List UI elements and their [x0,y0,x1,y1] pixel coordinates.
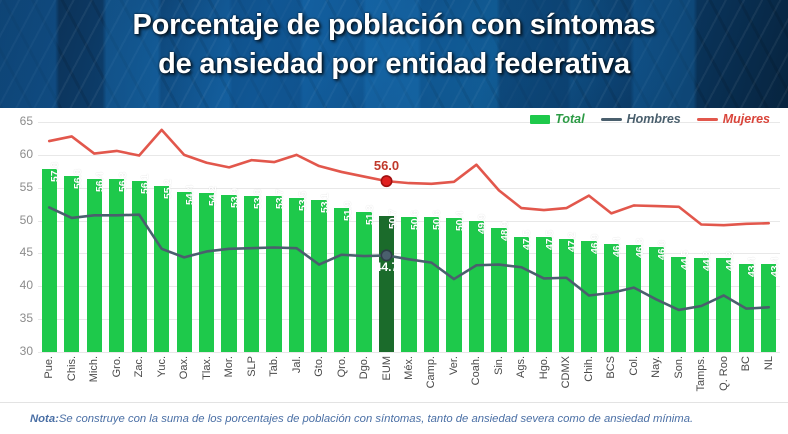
annotation-mujeres-eum-value: 56.0 [374,158,399,173]
x-axis-labels: Pue.Chis.Mich.Gro.Zac.Yuc.Oax.Tlax.Mor.S… [38,354,780,402]
x-axis-label-mich: Mich. [88,356,100,382]
x-axis-label-col: Col. [628,356,640,376]
x-axis-label-nl: NL [763,356,775,370]
y-axis-tick-30: 30 [0,344,33,358]
line-mujeres [49,130,769,225]
x-axis-label-qroo: Q. Roo [718,356,730,391]
x-label-slot: Hgo. [533,354,555,402]
x-axis-label-mor: Mor. [223,356,235,377]
x-label-slot: Son. [668,354,690,402]
x-label-slot: Tab. [263,354,285,402]
legend-label-total: Total [555,112,584,126]
chart-area: Total Hombres Mujeres 3035404550556065 5… [0,108,788,402]
x-label-slot: Pue. [38,354,60,402]
footnote: Nota: Se construye con la suma de los po… [0,402,788,434]
x-axis-label-mx: Méx. [403,356,415,380]
x-label-slot: Jal. [285,354,307,402]
x-label-slot: Coah. [465,354,487,402]
y-axis-tick-35: 35 [0,311,33,325]
x-label-slot: Méx. [398,354,420,402]
page-title-line1: Porcentaje de población con síntomas [0,6,788,45]
data-point-hombres-eum[interactable] [381,250,391,260]
x-label-slot: Sin. [488,354,510,402]
x-axis-label-zac: Zac. [133,356,145,377]
x-axis-label-gro: Gro. [111,356,123,377]
plot-area: 57.856.856.456.356.155.254.454.253.953.8… [38,122,780,352]
legend-swatch-total-icon [530,115,550,124]
x-label-slot: BCS [600,354,622,402]
x-axis-label-oax: Oax. [178,356,190,379]
x-label-slot: Zac. [128,354,150,402]
x-label-slot: Nay. [645,354,667,402]
x-label-slot: Ver. [443,354,465,402]
chart-legend: Total Hombres Mujeres [530,112,770,126]
page-title-line2: de ansiedad por entidad federativa [0,45,788,84]
legend-swatch-hombres-icon [601,118,622,121]
x-axis-label-tlax: Tlax. [201,356,213,380]
x-axis-label-tab: Tab. [268,356,280,377]
x-label-slot: Ags. [510,354,532,402]
x-label-slot: Oax. [173,354,195,402]
footnote-prefix: Nota: [30,413,59,425]
y-axis-tick-40: 40 [0,278,33,292]
x-axis-label-slp: SLP [246,356,258,377]
gridline-30 [38,352,780,353]
x-label-slot: Mor. [218,354,240,402]
x-label-slot: CDMX [555,354,577,402]
x-axis-label-jal: Jal. [291,356,303,373]
x-axis-label-qro: Qro. [336,356,348,377]
x-axis-label-pue: Pue. [43,356,55,379]
x-axis-label-bcs: BCS [605,356,617,379]
x-label-slot: Chis. [60,354,82,402]
data-point-mujeres-eum[interactable] [381,176,391,186]
page-title: Porcentaje de población con síntomas de … [0,6,788,83]
x-label-slot: Gro. [105,354,127,402]
x-label-slot: NL [758,354,780,402]
x-label-slot: Q. Roo [713,354,735,402]
x-axis-label-hgo: Hgo. [538,356,550,379]
y-axis-tick-55: 55 [0,180,33,194]
legend-item-mujeres[interactable]: Mujeres [697,112,770,126]
annotation-hombres-eum-value: 44.7 [375,260,398,274]
x-label-slot: Dgo. [353,354,375,402]
x-label-slot: Col. [623,354,645,402]
x-axis-label-eum: EUM [381,356,393,380]
y-axis-tick-65: 65 [0,114,33,128]
x-label-slot: Camp. [420,354,442,402]
x-label-slot: BC [735,354,757,402]
header-banner: Porcentaje de población con síntomas de … [0,0,788,108]
legend-label-hombres: Hombres [627,112,681,126]
legend-item-total[interactable]: Total [530,112,584,126]
x-axis-label-tamps: Tamps. [695,356,707,391]
x-label-slot: Chih. [578,354,600,402]
x-axis-label-ags: Ags. [515,356,527,378]
x-label-slot: Mich. [83,354,105,402]
x-label-slot: Tamps. [690,354,712,402]
x-label-slot: EUM [375,354,397,402]
x-label-slot: SLP [240,354,262,402]
footnote-text: Se construye con la suma de los porcenta… [59,413,693,425]
x-axis-label-coah: Coah. [470,356,482,385]
x-axis-label-camp: Camp. [425,356,437,388]
x-axis-label-ver: Ver. [448,356,460,375]
y-axis-tick-50: 50 [0,213,33,227]
line-hombres [49,207,769,310]
y-axis-labels: 3035404550556065 [0,122,38,352]
x-label-slot: Tlax. [195,354,217,402]
x-axis-label-sin: Sin. [493,356,505,375]
y-axis-tick-60: 60 [0,147,33,161]
x-axis-label-chis: Chis. [66,356,78,381]
x-axis-label-dgo: Dgo. [358,356,370,379]
x-axis-label-cdmx: CDMX [560,356,572,388]
legend-swatch-mujeres-icon [697,118,718,121]
x-axis-label-gto: Gto. [313,356,325,377]
x-label-slot: Gto. [308,354,330,402]
x-axis-label-son: Son. [673,356,685,379]
line-series-overlay [38,122,780,352]
legend-item-hombres[interactable]: Hombres [601,112,681,126]
x-axis-label-nay: Nay. [650,356,662,378]
x-label-slot: Yuc. [150,354,172,402]
x-axis-label-bc: BC [740,356,752,371]
y-axis-tick-45: 45 [0,245,33,259]
chart-page: Porcentaje de población con síntomas de … [0,0,788,434]
legend-label-mujeres: Mujeres [723,112,770,126]
x-axis-label-chih: Chih. [583,356,595,382]
x-label-slot: Qro. [330,354,352,402]
x-axis-label-yuc: Yuc. [156,356,168,377]
